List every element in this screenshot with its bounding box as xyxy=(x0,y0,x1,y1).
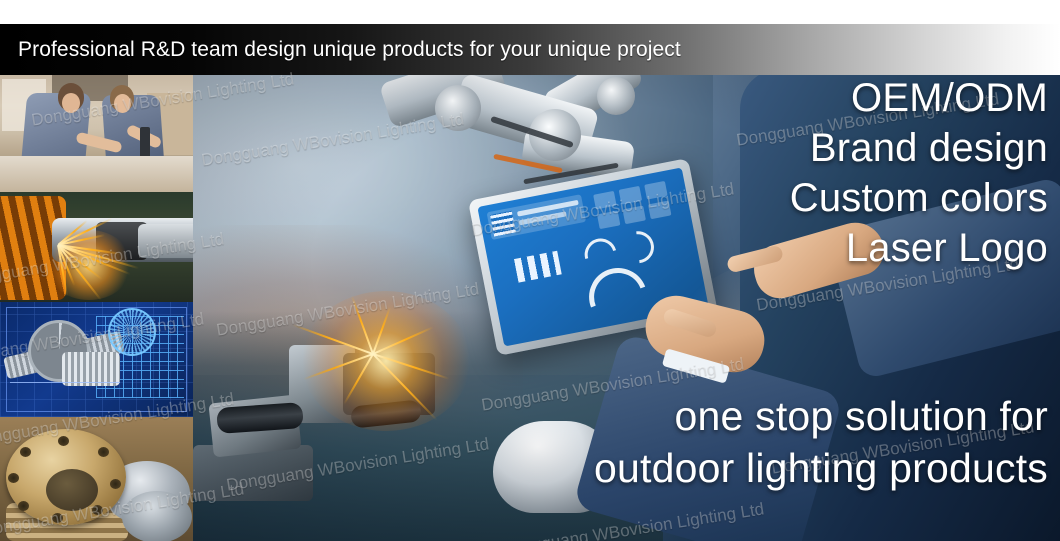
tagline-line-1: one stop solution for xyxy=(408,390,1048,442)
top-white-strip xyxy=(0,0,1060,24)
dimension-line xyxy=(10,382,120,383)
engineers-image xyxy=(0,75,193,192)
thumbnail-column xyxy=(0,75,193,541)
shaft-bright-section xyxy=(138,224,193,258)
steel-flange-two xyxy=(122,491,192,541)
thumbnail-engineers-at-workbench[interactable] xyxy=(0,75,193,192)
thumbnail-cad-gear-blueprint[interactable] xyxy=(0,302,193,417)
highlight-laser-logo: Laser Logo xyxy=(528,223,1048,273)
highlights-list: OEM/ODM Brand design Custom colors Laser… xyxy=(528,73,1048,273)
highlight-custom-colors: Custom colors xyxy=(528,173,1048,223)
header-bar: Professional R&D team design unique prod… xyxy=(0,24,1060,75)
gear-hub xyxy=(62,352,120,386)
engineer-one-face xyxy=(62,93,80,113)
tagline-block: one stop solution for outdoor lighting p… xyxy=(408,390,1048,494)
flanges-image xyxy=(0,417,193,541)
promo-banner: Professional R&D team design unique prod… xyxy=(0,0,1060,541)
wireframe-gear xyxy=(108,308,156,356)
brass-flange xyxy=(6,429,126,525)
thumbnail-metal-grinding-sparks[interactable] xyxy=(0,192,193,302)
workbench xyxy=(0,156,193,192)
flange-center-bore xyxy=(46,469,98,511)
highlight-oem-odm: OEM/ODM xyxy=(528,73,1048,123)
tagline-line-2: outdoor lighting products xyxy=(408,442,1048,494)
highlight-brand-design: Brand design xyxy=(528,123,1048,173)
spark-glow xyxy=(46,230,132,300)
cad-image xyxy=(0,302,193,417)
header-title: Professional R&D team design unique prod… xyxy=(0,38,681,62)
grinding-image xyxy=(0,192,193,302)
engineer-two-face xyxy=(114,94,131,113)
thumbnail-brass-steel-flanges[interactable] xyxy=(0,417,193,541)
